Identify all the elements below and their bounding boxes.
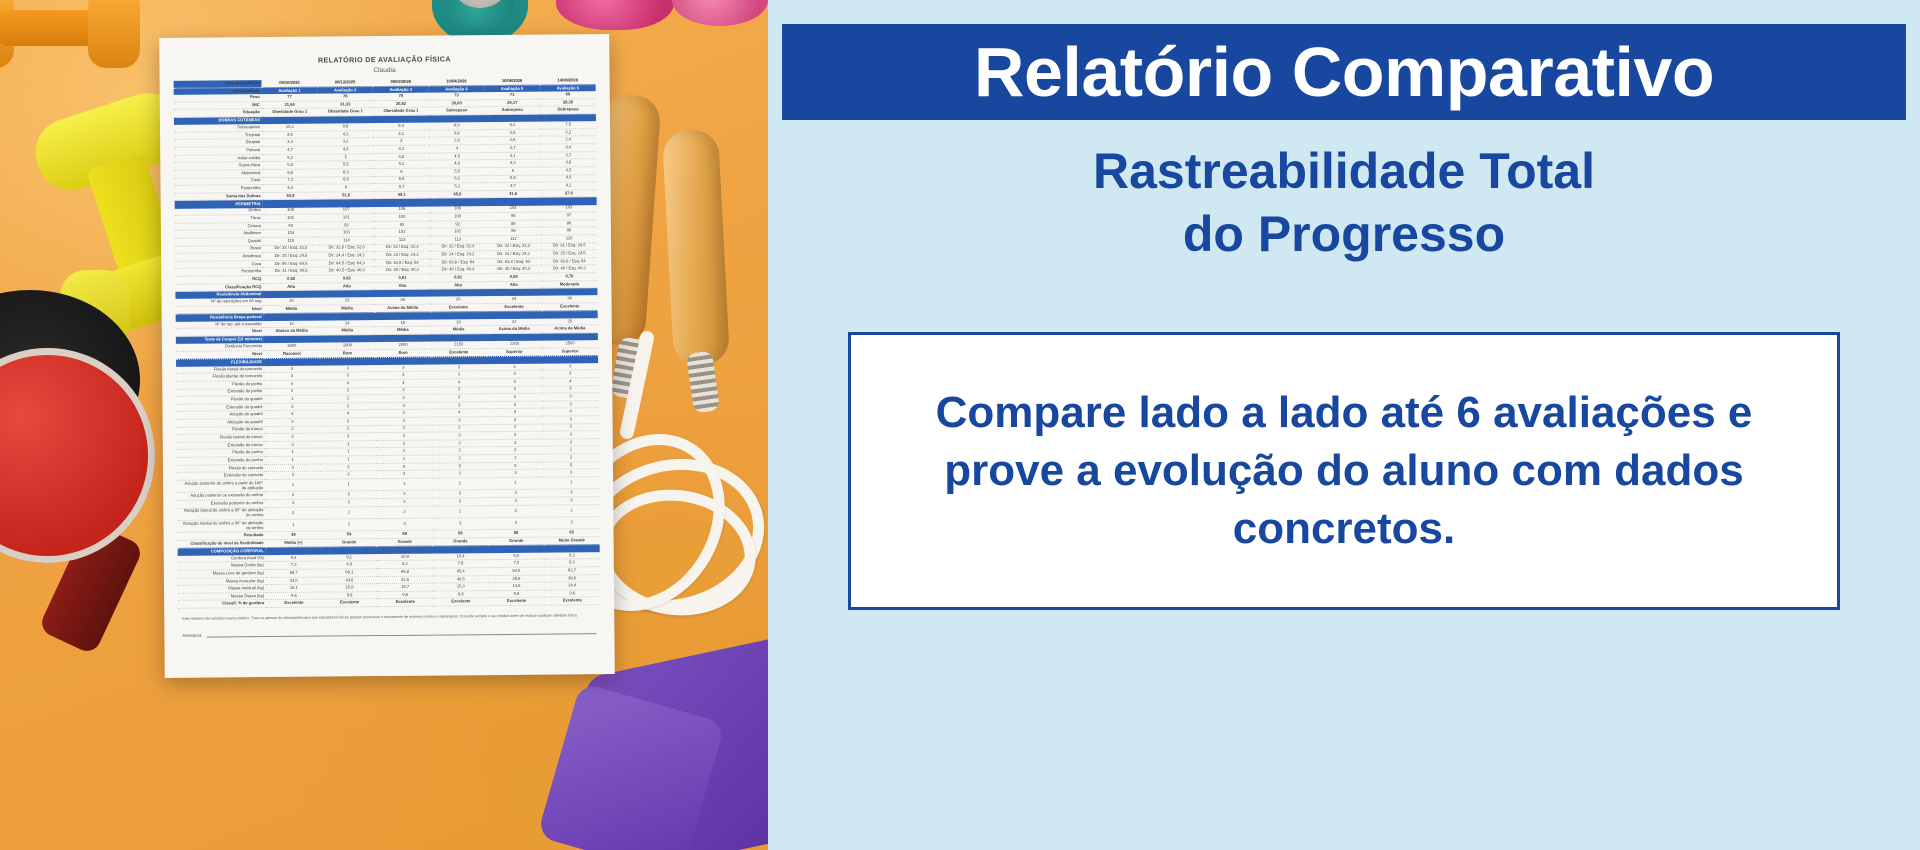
row-value: 2 (544, 504, 600, 517)
row-label: Rotação lateral do ombro a 90° de abduçã… (177, 507, 265, 520)
row-value: 1 (543, 477, 599, 490)
row-value: Excelente (489, 598, 545, 606)
signature-area: Assinatura: (178, 628, 600, 638)
row-label: Rotação medial do ombro a 90° de abdução… (177, 520, 265, 533)
row-value: 1 (488, 477, 544, 490)
row-value: 1 (376, 478, 432, 491)
row-value: 2 (377, 506, 433, 519)
row-value: 1 (321, 478, 377, 491)
promo-banner: RELATÓRIO DE AVALIAÇÃO FÍSICA Claudia Da… (0, 0, 1920, 850)
row-label: Classif. % de gordura (178, 600, 266, 608)
row-value: 3 (488, 517, 544, 530)
table-body: Data da Avaliação09/10/202509/12/202509/… (174, 77, 601, 608)
row-label: Adução posterior do ombro a partir de 18… (177, 479, 265, 492)
subtitle-block: Rastreabilidade Total do Progresso (768, 140, 1920, 266)
comparison-table: Data da Avaliação09/10/202509/12/202509/… (174, 77, 601, 609)
row-value: 2 (321, 506, 377, 519)
headline-band: Relatório Comparativo (782, 24, 1906, 120)
row-value: 3 (377, 518, 433, 531)
signature-line (206, 628, 596, 637)
row-value: 2 (321, 519, 377, 532)
row-value: 3 (544, 517, 600, 530)
row-value: 1 (432, 477, 488, 490)
photo-pane: RELATÓRIO DE AVALIAÇÃO FÍSICA Claudia Da… (0, 0, 768, 850)
signature-label: Assinatura: (182, 633, 202, 638)
student-name: Claudia (173, 65, 595, 76)
callout-box: Compare lado a lado até 6 avaliações e p… (848, 332, 1840, 610)
row-value: Excelente (266, 600, 322, 608)
row-value: Excelente (322, 599, 378, 607)
row-value: 2 (432, 505, 488, 518)
marketing-text-pane: Relatório Comparativo Rastreabilidade To… (768, 0, 1920, 850)
subtitle-line-1: Rastreabilidade Total (768, 140, 1920, 203)
row-value: Excelente (433, 598, 489, 606)
callout-text: Compare lado a lado até 6 avaliações e p… (851, 384, 1837, 558)
subtitle-line-2: do Progresso (768, 203, 1920, 266)
row-value: 2 (488, 505, 544, 518)
row-value: 1 (265, 519, 321, 532)
page-title: Relatório Comparativo (974, 32, 1714, 112)
row-value: Excelente (377, 599, 433, 607)
row-value: 3 (432, 518, 488, 531)
assessment-report-sheet: RELATÓRIO DE AVALIAÇÃO FÍSICA Claudia Da… (159, 34, 615, 678)
row-value: Excelente (544, 597, 600, 605)
row-value: 2 (265, 507, 321, 520)
report-title: RELATÓRIO DE AVALIAÇÃO FÍSICA (173, 53, 595, 66)
row-value: 1 (265, 479, 321, 492)
report-footnote: Este relatório não substitui exame médic… (178, 613, 600, 622)
